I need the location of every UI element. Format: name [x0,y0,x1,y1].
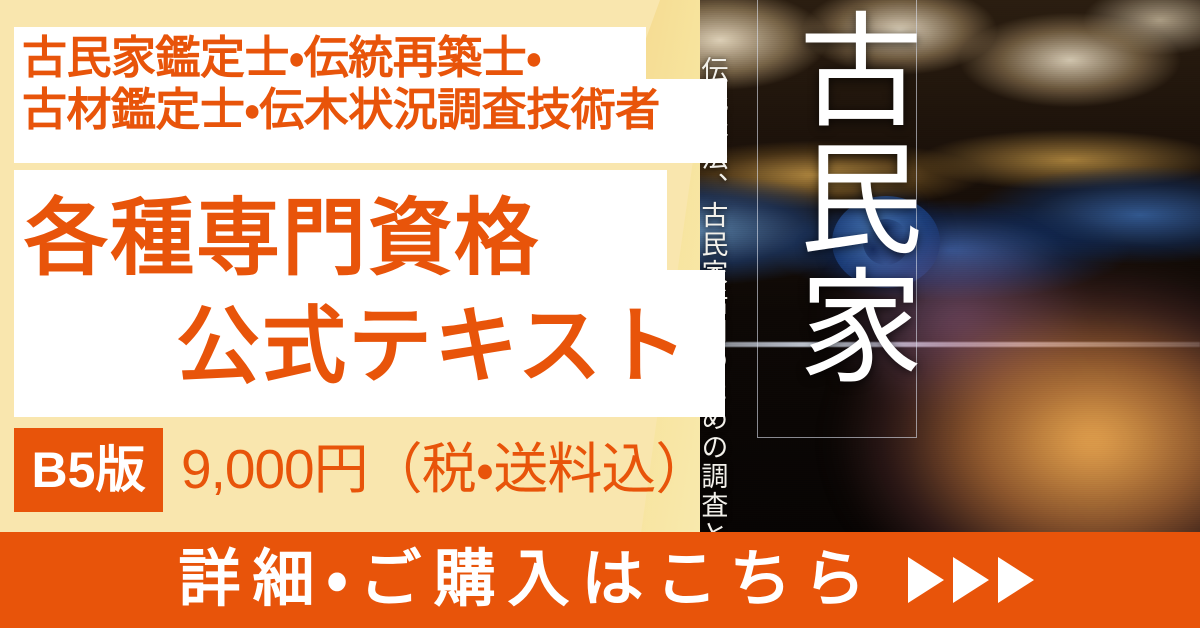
price-row: B5版 9,000円（税・送料込） [14,428,709,512]
triangle-right-icon [953,557,989,603]
headline-line-2: 公式テキスト [0,292,700,400]
triangle-right-icon [998,557,1034,603]
cta-button[interactable]: 詳細・ご購入はこちら [0,532,1200,628]
triangle-right-icon [908,557,944,603]
promo-banner: 古民家 伝統構法、古民家活用のための調査と再生の 古民家鑑定士・伝統再築士・ 古… [0,0,1200,628]
cta-label: 詳細・ご購入はこちら [166,549,877,611]
certification-line-2: 古材鑑定士・伝木状況調査技術者 [22,84,728,136]
certification-line-1: 古民家鑑定士・伝統再築士・ [22,32,728,84]
certification-list: 古民家鑑定士・伝統再築士・ 古材鑑定士・伝木状況調査技術者 [22,32,728,136]
price-label: 9,000円（税・送料込） [181,442,709,499]
cta-arrows [908,557,1034,603]
page-title: 各種専門資格 公式テキスト [0,184,700,400]
headline-line-1: 各種専門資格 [0,184,700,292]
book-cover-title: 古民家 [762,6,912,390]
format-badge: B5版 [14,428,163,512]
